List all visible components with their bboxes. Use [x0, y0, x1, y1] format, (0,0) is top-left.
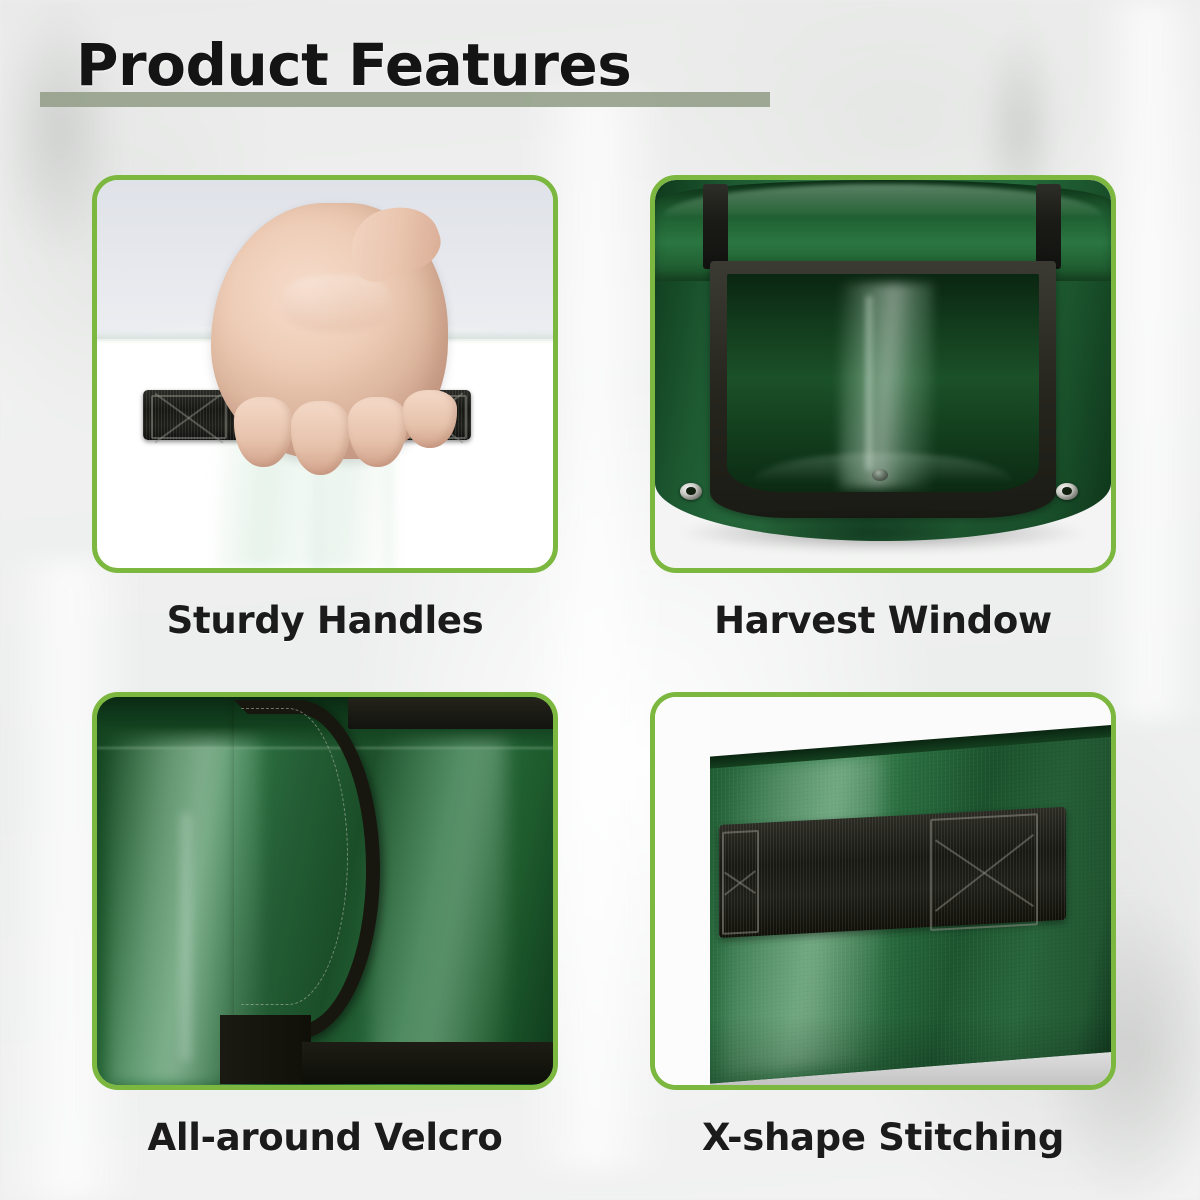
x-stitch-icon [655, 697, 1111, 1085]
grommet-icon [680, 483, 702, 500]
handle-strap [719, 806, 1066, 937]
velcro-upper-strip [348, 698, 553, 729]
x-stitch-patch-icon [151, 395, 227, 439]
feature-caption-all-around-velcro: All-around Velcro [148, 1116, 503, 1159]
velcro-lower-strip [220, 1015, 311, 1085]
x-stitch-patch-icon [930, 812, 1038, 930]
grommet-icon [1056, 483, 1078, 500]
window-flap-icon [655, 180, 1111, 568]
feature-card-all-around-velcro[interactable]: All-around Velcro [92, 692, 558, 1181]
feature-photo-harvest-window [650, 175, 1116, 573]
page-title: Product Features [76, 36, 631, 94]
feature-caption-harvest-window: Harvest Window [714, 599, 1052, 642]
tarp-sheen [371, 728, 508, 1062]
base-shadow [705, 1015, 1111, 1085]
velcro-strip-icon [97, 697, 553, 1085]
feature-grid: Sturdy Handles [0, 160, 1200, 1200]
feature-photo-sturdy-handles [92, 175, 558, 573]
feature-card-x-shape-stitching[interactable]: X-shape Stitching [650, 692, 1116, 1181]
velcro-lower-strip [302, 1042, 553, 1085]
feature-caption-x-shape-stitching: X-shape Stitching [702, 1116, 1064, 1159]
base-shadow [682, 514, 1083, 553]
photo-white-margin [655, 697, 710, 1085]
page-header: Product Features [0, 0, 1200, 160]
window-crease [864, 296, 873, 470]
feature-photo-x-shape-stitching [650, 692, 1116, 1090]
tarp-fold [179, 813, 193, 1061]
feature-card-harvest-window[interactable]: Harvest Window [650, 175, 1116, 664]
feature-photo-all-around-velcro [92, 692, 558, 1090]
grommet-icon [872, 469, 888, 481]
x-stitch-patch-icon [722, 829, 759, 934]
feature-caption-sturdy-handles: Sturdy Handles [167, 599, 484, 642]
vertical-strap-left [703, 184, 729, 269]
feature-card-sturdy-handles[interactable]: Sturdy Handles [92, 175, 558, 664]
harvest-window-opening [727, 274, 1039, 492]
vertical-strap-right [1036, 184, 1062, 269]
hand-grip-icon [97, 180, 553, 568]
knuckle-highlight [282, 275, 391, 331]
